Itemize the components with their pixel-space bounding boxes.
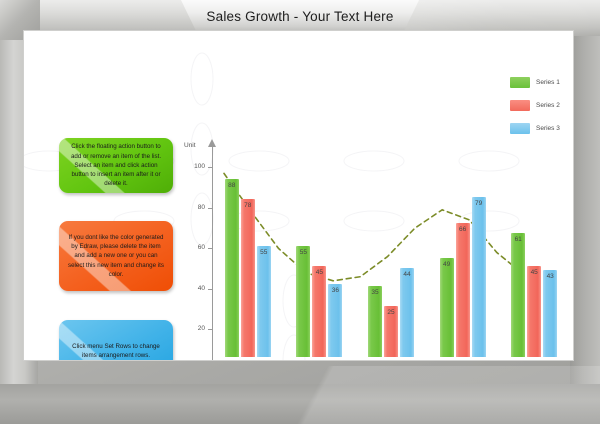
chart-legend: Series 1 Series 2 Series 3 [510, 77, 560, 146]
legend-swatch-series-2 [510, 100, 530, 111]
slide-canvas: Series 1 Series 2 Series 3 Click the flo… [24, 31, 573, 360]
bar-series-3[interactable] [400, 268, 414, 357]
callout-green-text: Click the floating action button to add … [59, 142, 173, 188]
page-title: Sales Growth - Your Text Here [206, 9, 393, 24]
bar-series-2[interactable] [456, 223, 470, 357]
legend-swatch-series-1 [510, 77, 530, 88]
legend-label-series-3: Series 3 [536, 125, 560, 132]
bar-series-3[interactable] [328, 284, 342, 357]
title-banner: Sales Growth - Your Text Here [181, 0, 419, 33]
callout-orange[interactable]: If you dont like the color generated by … [59, 221, 173, 291]
legend-swatch-series-3 [510, 123, 530, 134]
bar-series-2[interactable] [241, 199, 255, 357]
bar-value-label: 88 [221, 182, 243, 189]
bar-value-label: 61 [507, 236, 529, 243]
bar-value-label: 45 [308, 269, 330, 276]
bar-series-3[interactable] [543, 270, 557, 357]
bar-value-label: 78 [237, 202, 259, 209]
bar-value-label: 43 [539, 273, 561, 280]
callout-blue-text: Click menu Set Rows to change items arra… [59, 342, 173, 360]
bar-value-label: 49 [436, 261, 458, 268]
bar-value-label: 55 [253, 249, 275, 256]
bar-value-label: 36 [324, 287, 346, 294]
callout-green[interactable]: Click the floating action button to add … [59, 138, 173, 193]
legend-item[interactable]: Series 2 [510, 100, 560, 111]
frame-bevel-bottom [0, 384, 600, 424]
legend-label-series-1: Series 1 [536, 79, 560, 86]
bar-value-label: 44 [396, 271, 418, 278]
callout-blue[interactable]: Click menu Set Rows to change items arra… [59, 320, 173, 360]
bar-series-1[interactable] [511, 233, 525, 357]
bar-series-1[interactable] [440, 258, 454, 357]
bar-value-label: 55 [292, 249, 314, 256]
legend-item[interactable]: Series 1 [510, 77, 560, 88]
callout-orange-text: If you dont like the color generated by … [59, 233, 173, 279]
frame-bevel-right [570, 0, 600, 424]
bar-series-1[interactable] [368, 286, 382, 357]
bar-value-label: 25 [380, 309, 402, 316]
legend-label-series-2: Series 2 [536, 102, 560, 109]
bar-value-label: 79 [468, 200, 490, 207]
bar-series-3[interactable] [257, 246, 271, 358]
legend-item[interactable]: Series 3 [510, 123, 560, 134]
window-frame: Sales Growth - Your Text Here [0, 0, 600, 424]
bar-value-label: 35 [364, 289, 386, 296]
bar-series-2[interactable] [312, 266, 326, 357]
bar-chart: Unit 20406080100 88785555453635254449667… [184, 139, 573, 360]
bar-series-1[interactable] [296, 246, 310, 358]
bar-series-3[interactable] [472, 197, 486, 357]
bar-value-label: 66 [452, 226, 474, 233]
bar-groups: 887855554536352544496679614543 [184, 139, 573, 360]
